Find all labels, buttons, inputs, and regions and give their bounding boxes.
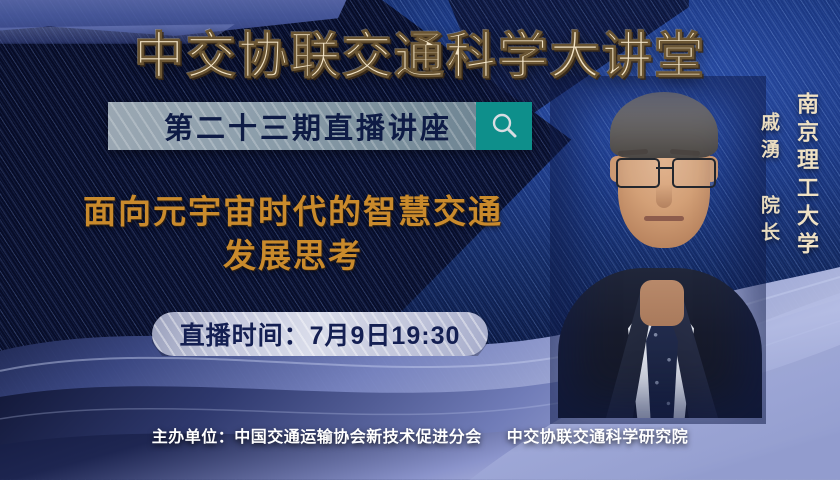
lecture-topic: 面向元宇宙时代的智慧交通 发展思考 xyxy=(40,190,546,277)
episode-banner-body: 第二十三期直播讲座 xyxy=(108,102,476,150)
broadcast-time-pill: 直播时间：7月9日19:30 xyxy=(152,312,488,356)
speaker-name-title: 戚湧 院长 xyxy=(755,112,782,249)
glasses-lens-right xyxy=(672,158,716,188)
portrait-hair xyxy=(610,92,718,158)
episode-label: 第二十三期直播讲座 xyxy=(164,105,452,147)
footer-co-organizer: 中交协联交通科学研究院 xyxy=(507,429,689,446)
portrait-necktie xyxy=(646,314,678,418)
lecture-topic-line-1: 面向元宇宙时代的智慧交通 xyxy=(40,190,546,234)
broadcast-time-label: 直播时间：7月9日19:30 xyxy=(180,316,461,352)
lecture-poster: 中交协联交通科学大讲堂 第二十三期直播讲座 面向元宇宙时代的智慧交通 发展思考 … xyxy=(0,0,840,480)
portrait-mouth xyxy=(644,216,684,221)
lecture-topic-line-2: 发展思考 xyxy=(40,234,546,278)
portrait-neck xyxy=(640,280,684,326)
glasses-bridge xyxy=(656,167,672,169)
speaker-portrait xyxy=(566,88,752,418)
glasses-icon xyxy=(612,158,716,186)
search-icon[interactable] xyxy=(476,102,532,150)
page-title: 中交协联交通科学大讲堂 xyxy=(0,16,840,88)
portrait-nose xyxy=(656,184,672,208)
glasses-lens-left xyxy=(616,158,660,188)
speaker-affiliation: 南京理工大学 xyxy=(790,92,822,260)
footer-organizers: 主办单位：中国交通运输协会新技术促进分会 中交协联交通科学研究院 xyxy=(0,423,840,447)
episode-banner: 第二十三期直播讲座 xyxy=(108,102,532,150)
footer-organizer: 主办单位：中国交通运输协会新技术促进分会 xyxy=(152,429,482,446)
